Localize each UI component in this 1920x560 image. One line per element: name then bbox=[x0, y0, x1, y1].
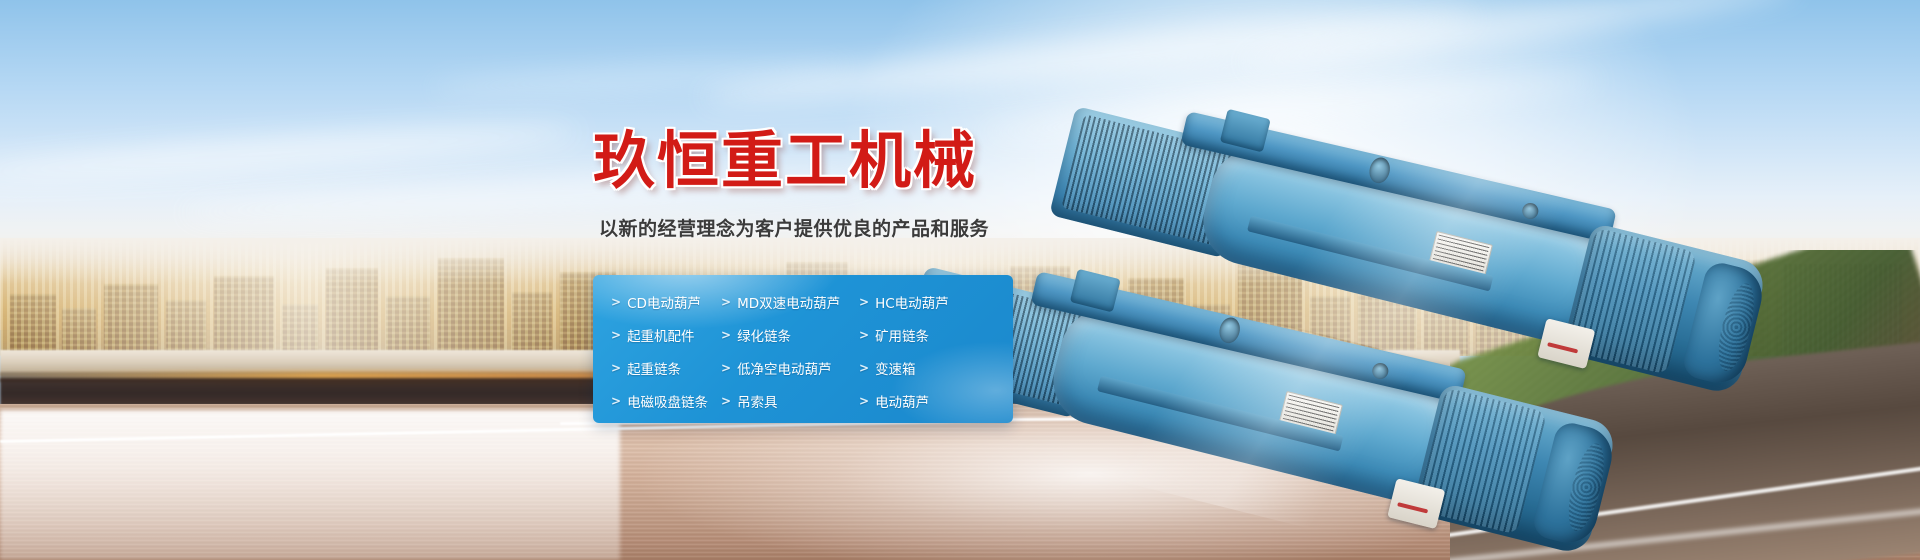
product-link-label: 电动葫芦 bbox=[875, 391, 929, 411]
product-link-label: 起重链条 bbox=[627, 358, 681, 378]
product-link-lifting-chain[interactable]: > 起重链条 bbox=[611, 358, 721, 378]
product-link-crane-parts[interactable]: > 起重机配件 bbox=[611, 325, 721, 345]
product-link-label: HC电动葫芦 bbox=[875, 292, 949, 312]
hero-banner: 玖恒重工机械 以新的经营理念为客户提供优良的产品和服务 > CD电动葫芦 > M… bbox=[0, 0, 1920, 560]
chevron-right-icon: > bbox=[721, 296, 731, 308]
product-link-label: 吊索具 bbox=[737, 391, 778, 411]
product-link-slings[interactable]: > 吊索具 bbox=[721, 391, 859, 411]
product-link-gearbox[interactable]: > 变速箱 bbox=[859, 358, 1013, 378]
chevron-right-icon: > bbox=[859, 329, 869, 341]
product-link-electric-hoist[interactable]: > 电动葫芦 bbox=[859, 391, 1013, 411]
product-links-grid: > CD电动葫芦 > MD双速电动葫芦 > HC电动葫芦 > 起重机配件 > 绿… bbox=[593, 275, 1013, 423]
hoist-motor bbox=[1561, 223, 1768, 397]
chevron-right-icon: > bbox=[859, 296, 869, 308]
product-link-greening-chain[interactable]: > 绿化链条 bbox=[721, 325, 859, 345]
road-left-glare bbox=[0, 410, 620, 560]
chevron-right-icon: > bbox=[611, 296, 621, 308]
product-link-label: CD电动葫芦 bbox=[627, 292, 701, 312]
page-title: 玖恒重工机械 bbox=[593, 130, 1053, 192]
product-link-label: 变速箱 bbox=[875, 358, 916, 378]
banner-subtitle: 以新的经营理念为客户提供优良的产品和服务 bbox=[599, 214, 1053, 241]
chevron-right-icon: > bbox=[611, 329, 621, 341]
product-link-label: MD双速电动葫芦 bbox=[737, 292, 840, 312]
chevron-right-icon: > bbox=[721, 362, 731, 374]
product-link-md-dual-speed-hoist[interactable]: > MD双速电动葫芦 bbox=[721, 292, 859, 312]
chevron-right-icon: > bbox=[859, 395, 869, 407]
product-links-panel: > CD电动葫芦 > MD双速电动葫芦 > HC电动葫芦 > 起重机配件 > 绿… bbox=[593, 275, 1013, 423]
chevron-right-icon: > bbox=[721, 395, 731, 407]
product-link-mining-chain[interactable]: > 矿用链条 bbox=[859, 325, 1013, 345]
product-link-hc-hoist[interactable]: > HC电动葫芦 bbox=[859, 292, 1013, 312]
product-link-label: 低净空电动葫芦 bbox=[737, 358, 832, 378]
product-link-label: 起重机配件 bbox=[627, 325, 695, 345]
banner-copy: 玖恒重工机械 以新的经营理念为客户提供优良的产品和服务 bbox=[593, 130, 1053, 241]
product-link-label: 矿用链条 bbox=[875, 325, 929, 345]
product-link-low-headroom-hoist[interactable]: > 低净空电动葫芦 bbox=[721, 358, 859, 378]
product-link-label: 电磁吸盘链条 bbox=[627, 391, 708, 411]
chevron-right-icon: > bbox=[611, 362, 621, 374]
product-link-label: 绿化链条 bbox=[737, 325, 791, 345]
product-link-magnetic-chuck-chain[interactable]: > 电磁吸盘链条 bbox=[611, 391, 721, 411]
chevron-right-icon: > bbox=[611, 395, 621, 407]
hoist-motor bbox=[1411, 383, 1618, 557]
motor-fan-cover bbox=[1680, 260, 1768, 389]
chevron-right-icon: > bbox=[859, 362, 869, 374]
electric-hoist-group bbox=[1040, 40, 1920, 470]
chevron-right-icon: > bbox=[721, 329, 731, 341]
product-link-cd-hoist[interactable]: > CD电动葫芦 bbox=[611, 292, 721, 312]
